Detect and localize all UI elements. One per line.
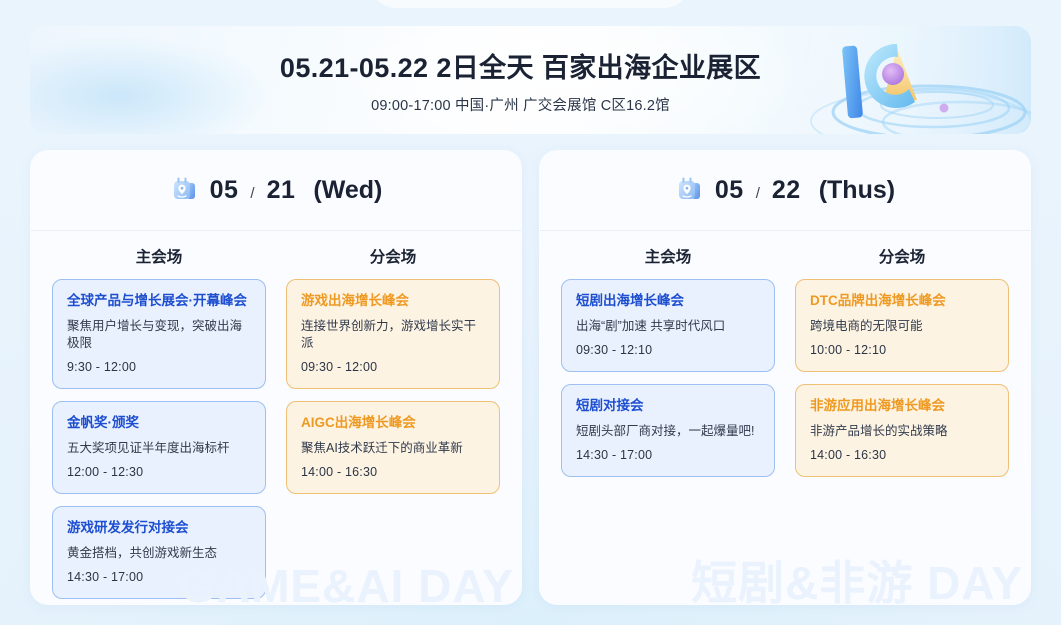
session-title: AIGC出海增长峰会	[301, 415, 485, 431]
session-title: 短剧对接会	[576, 398, 760, 414]
session-title: DTC品牌出海增长峰会	[810, 293, 994, 309]
session-card[interactable]: 游戏出海增长峰会 连接世界创新力，游戏增长实干派 09:30 - 12:00	[286, 279, 500, 389]
day-header: 05 / 21 (Wed)	[30, 150, 522, 230]
day-separator: /	[250, 185, 254, 202]
calendar-location-icon	[675, 175, 705, 205]
day-card-05-22: 05 / 22 (Thus) 主会场 短剧出海增长峰会 出海“剧”加速 共享时代…	[539, 150, 1031, 605]
day-header: 05 / 22 (Thus)	[539, 150, 1031, 230]
session-list-sub: 游戏出海增长峰会 连接世界创新力，游戏增长实干派 09:30 - 12:00 A…	[276, 279, 510, 494]
session-list-sub: DTC品牌出海增长峰会 跨境电商的无限可能 10:00 - 12:10 非游应用…	[785, 279, 1019, 477]
session-card[interactable]: 短剧出海增长峰会 出海“剧”加速 共享时代风口 09:30 - 12:10	[561, 279, 775, 372]
session-time: 09:30 - 12:10	[576, 343, 760, 357]
card-watermark: 短剧&非游 DAY	[691, 547, 1023, 605]
day-number: 21	[267, 176, 296, 205]
column-title-sub: 分会场	[785, 231, 1019, 279]
session-card[interactable]: 金帆奖·颁奖 五大奖项见证半年度出海标杆 12:00 - 12:30	[52, 401, 266, 494]
venue-columns: 主会场 全球产品与增长展会·开幕峰会 聚焦用户增长与变现，突破出海极限 9:30…	[30, 231, 522, 599]
day-cards-container: 05 / 21 (Wed) 主会场 全球产品与增长展会·开幕峰会 聚焦用户增长与…	[30, 150, 1031, 605]
session-time: 12:00 - 12:30	[67, 465, 251, 479]
session-time: 14:00 - 16:30	[301, 465, 485, 479]
column-title-main: 主会场	[551, 231, 785, 279]
session-card[interactable]: 短剧对接会 短剧头部厂商对接，一起爆量吧! 14:30 - 17:00	[561, 384, 775, 477]
session-title: 金帆奖·颁奖	[67, 415, 251, 431]
day-separator: /	[756, 185, 760, 202]
session-description: 跨境电商的无限可能	[810, 318, 994, 335]
banner-title: 05.21-05.22 2日全天 百家出海企业展区	[280, 46, 761, 85]
session-card[interactable]: 游戏研发发行对接会 黄金搭档，共创游戏新生态 14:30 - 17:00	[52, 506, 266, 599]
session-description: 非游产品增长的实战策略	[810, 423, 994, 440]
session-time: 14:00 - 16:30	[810, 448, 994, 462]
venue-column-main: 主会场 全球产品与增长展会·开幕峰会 聚焦用户增长与变现，突破出海极限 9:30…	[42, 231, 276, 599]
abstract-3d-swirl-artwork-icon	[801, 26, 1031, 134]
schedule-page: 05.21-05.22 2日全天 百家出海企业展区 09:00-17:00 中国…	[0, 0, 1061, 625]
venue-columns: 主会场 短剧出海增长峰会 出海“剧”加速 共享时代风口 09:30 - 12:1…	[539, 231, 1031, 477]
session-title: 全球产品与增长展会·开幕峰会	[67, 293, 251, 309]
session-card[interactable]: 非游应用出海增长峰会 非游产品增长的实战策略 14:00 - 16:30	[795, 384, 1009, 477]
day-month: 05	[715, 176, 744, 205]
day-card-05-21: 05 / 21 (Wed) 主会场 全球产品与增长展会·开幕峰会 聚焦用户增长与…	[30, 150, 522, 605]
day-number: 22	[772, 176, 801, 205]
session-title: 非游应用出海增长峰会	[810, 398, 994, 414]
column-title-main: 主会场	[42, 231, 276, 279]
session-time: 10:00 - 12:10	[810, 343, 994, 357]
session-description: 聚焦用户增长与变现，突破出海极限	[67, 318, 251, 352]
session-description: 连接世界创新力，游戏增长实干派	[301, 318, 485, 352]
event-banner: 05.21-05.22 2日全天 百家出海企业展区 09:00-17:00 中国…	[30, 26, 1031, 134]
session-title: 游戏出海增长峰会	[301, 293, 485, 309]
day-weekday: (Wed)	[313, 176, 382, 205]
calendar-location-icon	[170, 175, 200, 205]
day-weekday: (Thus)	[819, 176, 895, 205]
day-month: 05	[210, 176, 239, 205]
session-title: 短剧出海增长峰会	[576, 293, 760, 309]
session-card[interactable]: DTC品牌出海增长峰会 跨境电商的无限可能 10:00 - 12:10	[795, 279, 1009, 372]
column-title-sub: 分会场	[276, 231, 510, 279]
session-time: 9:30 - 12:00	[67, 360, 251, 374]
session-list-main: 短剧出海增长峰会 出海“剧”加速 共享时代风口 09:30 - 12:10 短剧…	[551, 279, 785, 477]
session-time: 09:30 - 12:00	[301, 360, 485, 374]
session-title: 游戏研发发行对接会	[67, 520, 251, 536]
banner-subtitle: 09:00-17:00 中国·广州 广交会展馆 C区16.2馆	[371, 94, 670, 115]
session-description: 五大奖项见证半年度出海标杆	[67, 440, 251, 457]
session-time: 14:30 - 17:00	[67, 570, 251, 584]
venue-column-sub: 分会场 DTC品牌出海增长峰会 跨境电商的无限可能 10:00 - 12:10 …	[785, 231, 1019, 477]
session-description: 黄金搭档，共创游戏新生态	[67, 545, 251, 562]
top-cutoff-shape	[370, 0, 690, 8]
venue-column-sub: 分会场 游戏出海增长峰会 连接世界创新力，游戏增长实干派 09:30 - 12:…	[276, 231, 510, 599]
session-list-main: 全球产品与增长展会·开幕峰会 聚焦用户增长与变现，突破出海极限 9:30 - 1…	[42, 279, 276, 599]
venue-column-main: 主会场 短剧出海增长峰会 出海“剧”加速 共享时代风口 09:30 - 12:1…	[551, 231, 785, 477]
session-description: 出海“剧”加速 共享时代风口	[576, 318, 760, 335]
session-description: 聚焦AI技术跃迁下的商业革新	[301, 440, 485, 457]
session-time: 14:30 - 17:00	[576, 448, 760, 462]
session-card[interactable]: AIGC出海增长峰会 聚焦AI技术跃迁下的商业革新 14:00 - 16:30	[286, 401, 500, 494]
session-card[interactable]: 全球产品与增长展会·开幕峰会 聚焦用户增长与变现，突破出海极限 9:30 - 1…	[52, 279, 266, 389]
session-description: 短剧头部厂商对接，一起爆量吧!	[576, 423, 760, 440]
